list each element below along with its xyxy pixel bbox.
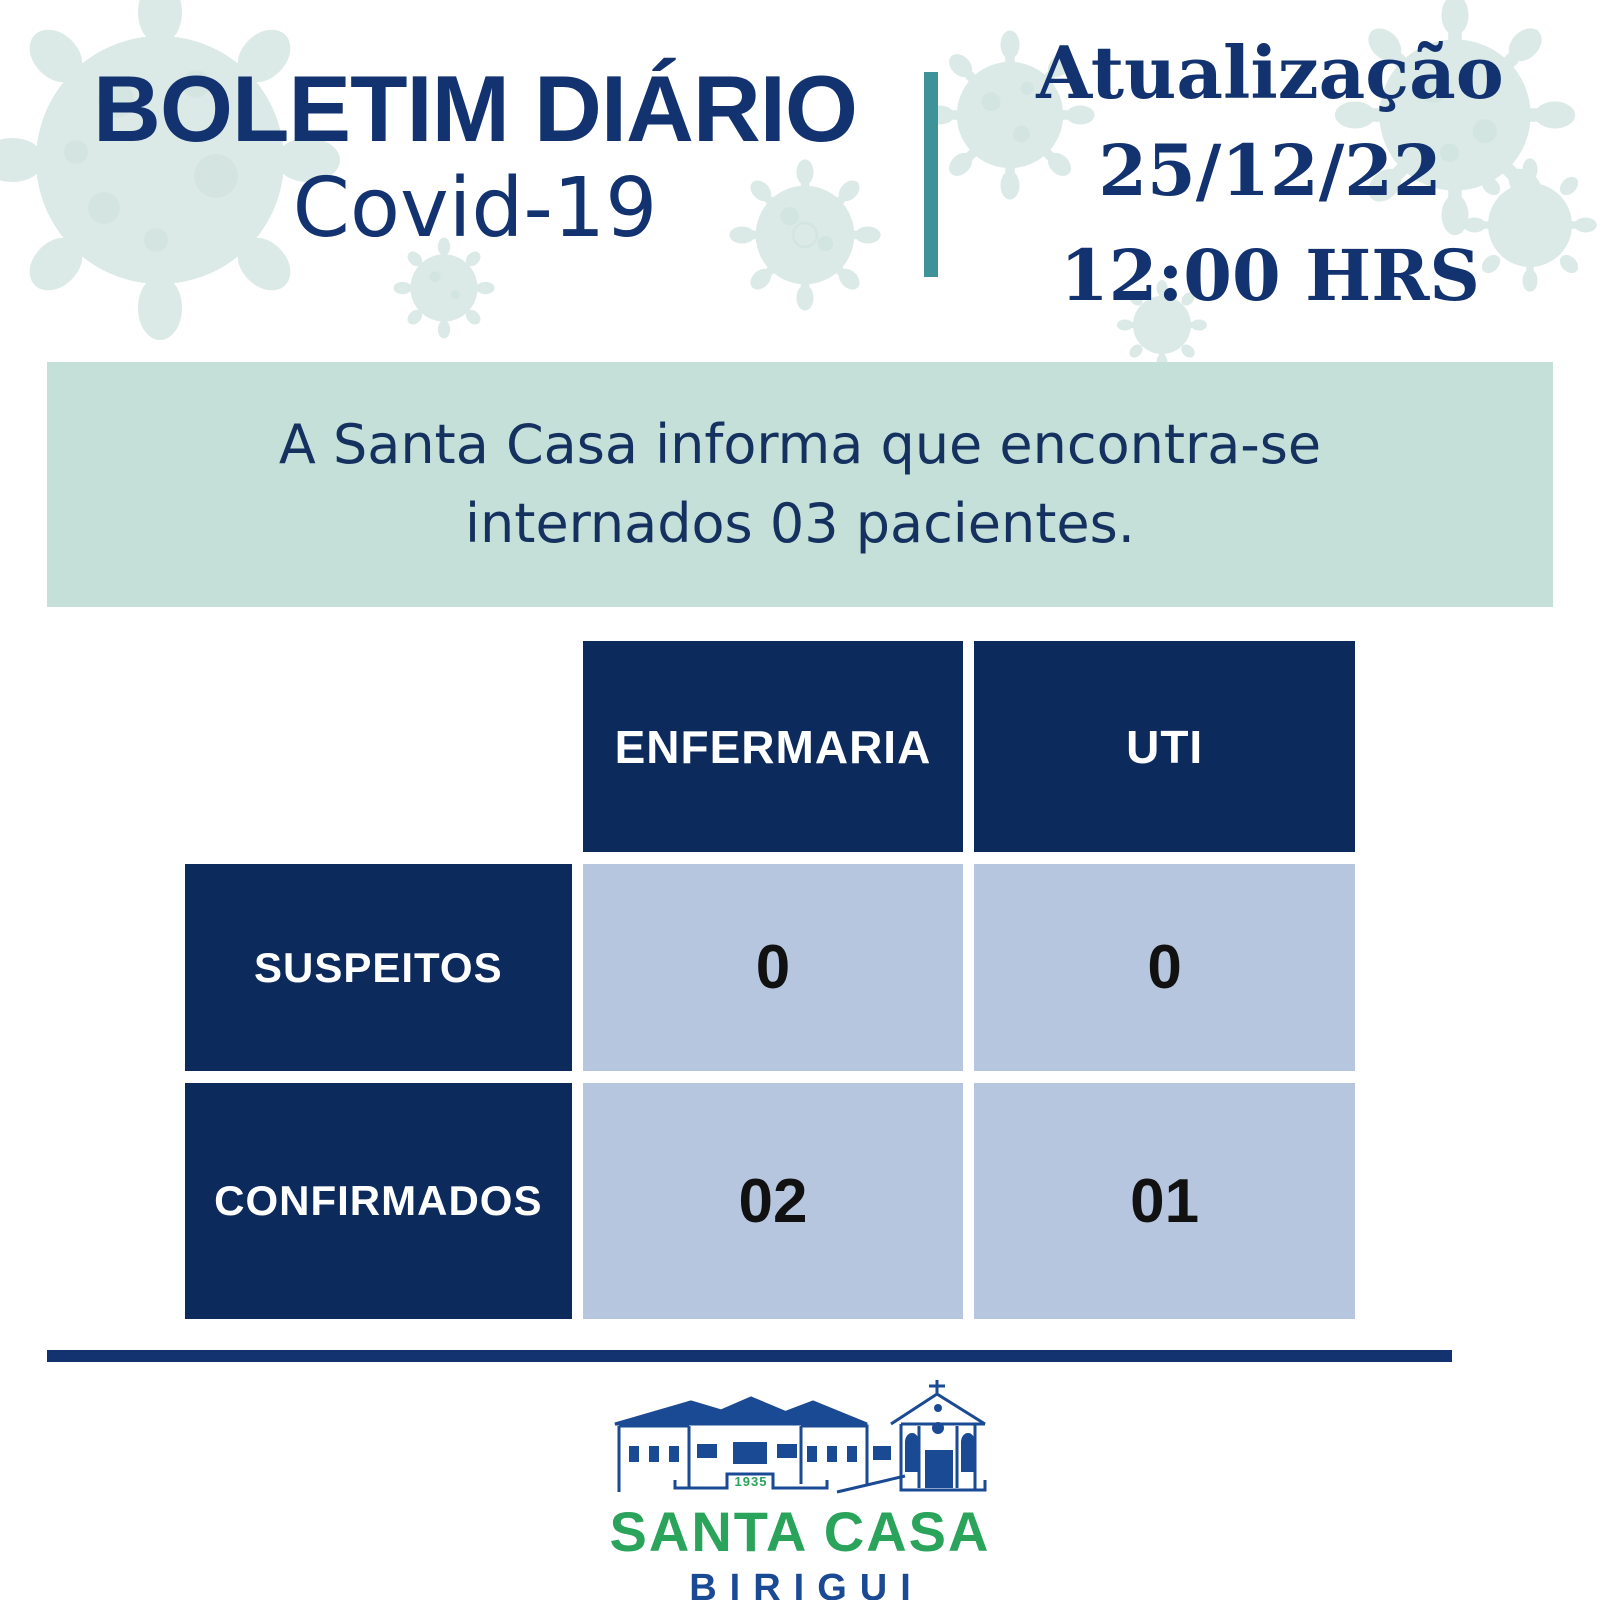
table-header-row: ENFERMARIA UTI	[185, 641, 1355, 852]
cell-confirmados-enfermaria: 02	[583, 1083, 964, 1319]
logo-name: SANTA CASA	[600, 1504, 1000, 1560]
hospital-building-icon: 1935	[605, 1380, 995, 1500]
cell-confirmados-uti: 01	[974, 1083, 1355, 1319]
update-block: Atualização 25/12/22 12:00 HRS	[960, 28, 1580, 328]
cell-suspeitos-uti: 0	[974, 864, 1355, 1071]
footer-divider	[47, 1350, 1452, 1362]
covid-bulletin-poster: BOLETIM DIÁRIO Covid-19 Atualização 25/1…	[0, 0, 1600, 1600]
table-corner-cell	[185, 641, 572, 852]
santa-casa-logo: 1935 SANTA CASA BIRIGUI	[600, 1380, 1000, 1600]
table-row: CONFIRMADOS 02 01	[185, 1083, 1355, 1319]
title-block: BOLETIM DIÁRIO Covid-19	[60, 62, 890, 256]
info-banner: A Santa Casa informa que encontra-se int…	[47, 362, 1553, 607]
update-time: 12:00 HRS	[960, 223, 1580, 328]
update-label: Atualização	[960, 28, 1580, 118]
column-header-uti: UTI	[974, 641, 1355, 852]
row-label-suspeitos: SUSPEITOS	[185, 864, 572, 1071]
patients-table: ENFERMARIA UTI SUSPEITOS 0 0 CONFIRMADOS…	[185, 641, 1355, 1319]
row-label-confirmados: CONFIRMADOS	[185, 1083, 572, 1319]
cell-suspeitos-enfermaria: 0	[583, 864, 964, 1071]
column-header-enfermaria: ENFERMARIA	[583, 641, 964, 852]
logo-city: BIRIGUI	[600, 1568, 1000, 1600]
info-banner-text: A Santa Casa informa que encontra-se int…	[47, 406, 1553, 563]
logo-founded-year: 1935	[735, 1474, 768, 1489]
update-date: 25/12/22	[960, 118, 1580, 223]
page-title: BOLETIM DIÁRIO	[60, 62, 890, 156]
table-row: SUSPEITOS 0 0	[185, 864, 1355, 1071]
header-divider	[924, 72, 938, 277]
page-subtitle: Covid-19	[60, 162, 890, 256]
